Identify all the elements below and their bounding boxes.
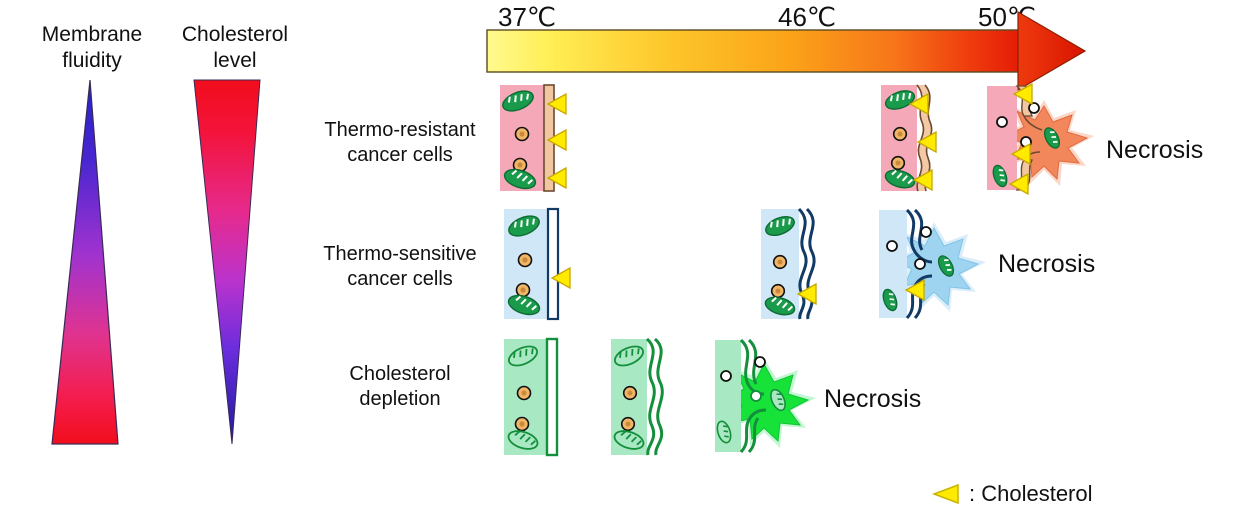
membrane-fluidity-wedge [38,78,150,450]
necrosis-label-thermo-resistant: Necrosis [1106,136,1203,164]
cell-thermo-resistant-46c [878,82,964,194]
necrosis-label-cholesterol-depletion: Necrosis [824,385,921,413]
cell-thermo-resistant-37c [496,82,570,194]
membrane-fluidity-title: Membrane fluidity [22,22,162,74]
cell-cholesterol-depletion-37c [500,336,572,458]
cholesterol-triangle-icon [930,482,960,506]
figure-canvas: Membrane fluidity Cholesterol level [0,0,1241,515]
cholesterol-level-title: Cholesterol level [160,22,310,74]
row-label-thermo-resistant: Thermo-resistant cancer cells [305,118,495,168]
cell-cholesterol-depletion-46c-necrotic [712,334,830,458]
cell-cholesterol-depletion-42c [608,336,700,458]
cholesterol-level-wedge [182,78,282,450]
legend-cholesterol-text: : Cholesterol [969,481,1093,507]
cell-thermo-sensitive-50c-necrotic [876,204,994,324]
row-label-thermo-sensitive: Thermo-sensitive cancer cells [305,242,495,292]
cell-thermo-sensitive-46c [758,206,850,322]
cell-thermo-sensitive-37c [500,206,574,322]
necrosis-label-thermo-sensitive: Necrosis [998,250,1095,278]
legend-cholesterol: : Cholesterol [930,481,1093,507]
cell-thermo-resistant-50c-necrotic [984,80,1102,198]
row-label-cholesterol-depletion: Cholesterol depletion [305,362,495,412]
